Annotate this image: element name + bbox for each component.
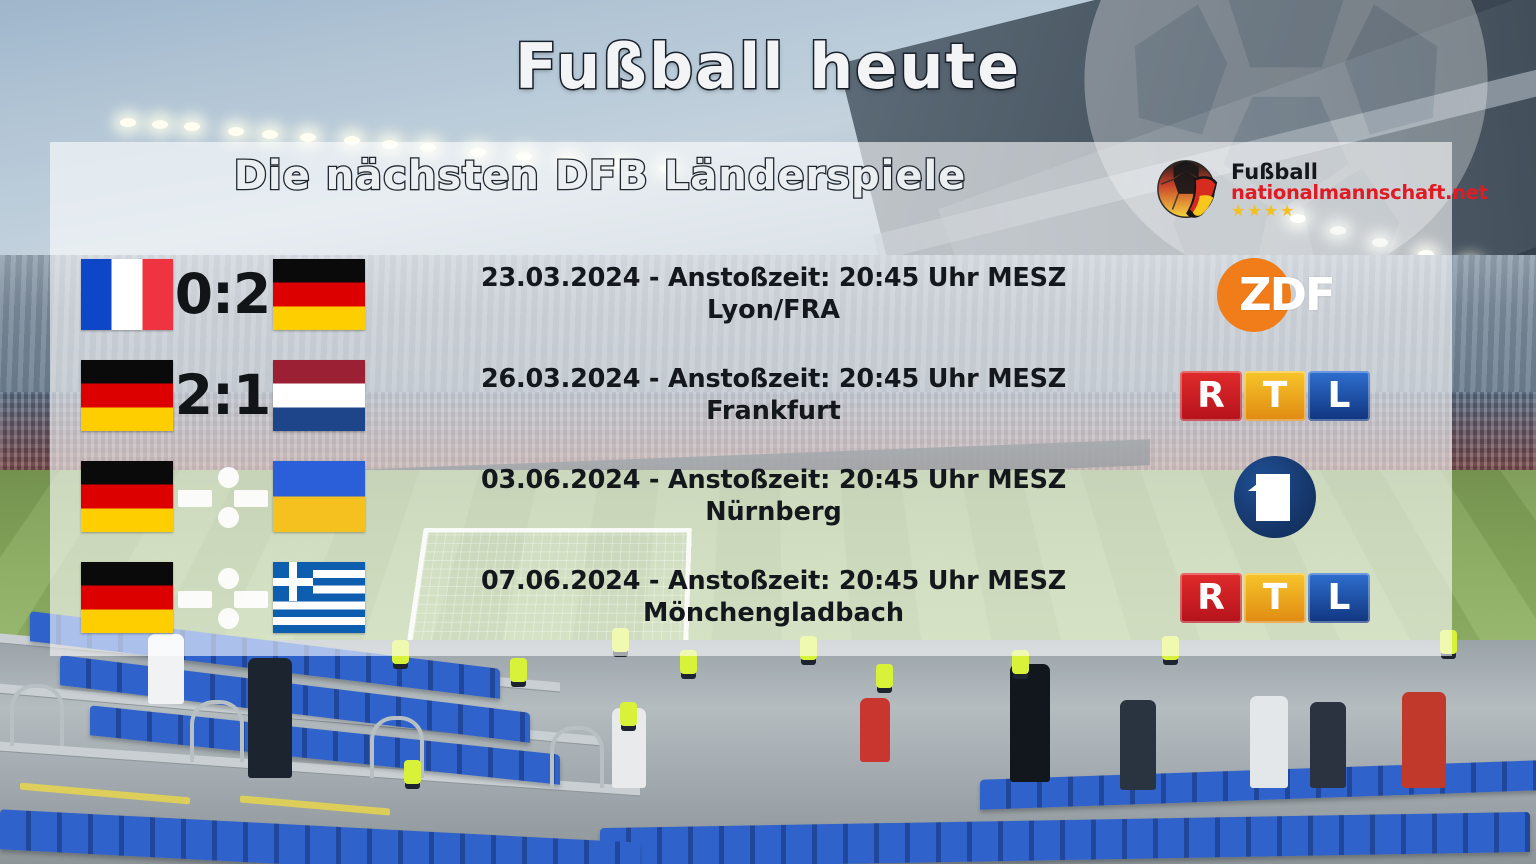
germany-flag bbox=[81, 562, 173, 633]
germany-flag bbox=[81, 461, 173, 532]
match-datetime: 26.03.2024 - Anstoßzeit: 20:45 Uhr MESZ bbox=[395, 364, 1152, 396]
zdf-wordmark: ZDF bbox=[1239, 272, 1334, 317]
logo-line-1: Fußball bbox=[1231, 162, 1488, 183]
germany-flag bbox=[81, 360, 173, 431]
match-row[interactable]: 03.06.2024 - Anstoßzeit: 20:45 Uhr MESZ … bbox=[50, 446, 1452, 547]
match-venue: Lyon/FRA bbox=[395, 295, 1152, 327]
broadcaster-rtl-logo[interactable]: R T L bbox=[1170, 558, 1380, 638]
match-score: 2:1 bbox=[173, 368, 273, 423]
rtl-letter-r: R bbox=[1180, 573, 1242, 623]
match-row[interactable]: 2:1 26.03.2024 - Anstoßzeit: 20:45 Uhr M… bbox=[50, 345, 1452, 446]
broadcaster-rtl-logo[interactable]: R T L bbox=[1170, 356, 1380, 436]
rtl-letter-l: L bbox=[1308, 371, 1370, 421]
match-datetime: 07.06.2024 - Anstoßzeit: 20:45 Uhr MESZ bbox=[395, 566, 1152, 598]
rtl-letter-t: T bbox=[1244, 371, 1306, 421]
match-venue: Nürnberg bbox=[395, 497, 1152, 529]
logo-stars: ★★★★ bbox=[1231, 204, 1488, 220]
panel-subtitle: Die nächsten DFB Länderspiele bbox=[50, 156, 1150, 196]
fixture: 2:1 bbox=[50, 360, 395, 431]
match-score-pending bbox=[173, 567, 273, 629]
page-title: Fußball heute bbox=[0, 36, 1536, 98]
match-datetime: 23.03.2024 - Anstoßzeit: 20:45 Uhr MESZ bbox=[395, 263, 1152, 295]
match-list: 0:2 23.03.2024 - Anstoßzeit: 20:45 Uhr M… bbox=[50, 244, 1452, 648]
greece-flag bbox=[273, 562, 365, 633]
fixture bbox=[50, 461, 395, 532]
rtl-icon: R T L bbox=[1180, 573, 1370, 623]
rtl-letter-t: T bbox=[1244, 573, 1306, 623]
matches-panel: Die nächsten DFB Länderspiele bbox=[50, 142, 1452, 656]
greece-flag-canton bbox=[273, 562, 314, 601]
das-erste-one-icon bbox=[1234, 456, 1316, 538]
rtl-letter-l: L bbox=[1308, 573, 1370, 623]
match-row[interactable]: 07.06.2024 - Anstoßzeit: 20:45 Uhr MESZ … bbox=[50, 547, 1452, 648]
fixture: 0:2 bbox=[50, 259, 395, 330]
site-logo-text: Fußball nationalmannschaft.net ★★★★ bbox=[1231, 162, 1488, 220]
match-row[interactable]: 0:2 23.03.2024 - Anstoßzeit: 20:45 Uhr M… bbox=[50, 244, 1452, 345]
broadcaster-das-erste-logo[interactable] bbox=[1170, 457, 1380, 537]
broadcaster-zdf-logo[interactable]: ZDF bbox=[1170, 255, 1380, 335]
germany-flag bbox=[273, 259, 365, 330]
match-venue: Mönchengladbach bbox=[395, 598, 1152, 630]
match-score: 0:2 bbox=[173, 267, 273, 322]
logo-line-2: nationalmannschaft.net bbox=[1231, 183, 1488, 203]
match-datetime: 03.06.2024 - Anstoßzeit: 20:45 Uhr MESZ bbox=[395, 465, 1152, 497]
rtl-icon: R T L bbox=[1180, 371, 1370, 421]
netherlands-flag bbox=[273, 360, 365, 431]
france-flag bbox=[81, 259, 173, 330]
rtl-letter-r: R bbox=[1180, 371, 1242, 421]
ukraine-flag bbox=[273, 461, 365, 532]
match-score-pending bbox=[173, 466, 273, 528]
fixture bbox=[50, 562, 395, 633]
match-venue: Frankfurt bbox=[395, 396, 1152, 428]
site-logo[interactable]: Fußball nationalmannschaft.net ★★★★ bbox=[1155, 154, 1447, 228]
poster-stage: Fußball heute Die nächsten DFB Länderspi… bbox=[0, 0, 1536, 864]
soccer-ball-icon bbox=[1155, 157, 1223, 225]
zdf-icon: ZDF bbox=[1217, 258, 1333, 332]
